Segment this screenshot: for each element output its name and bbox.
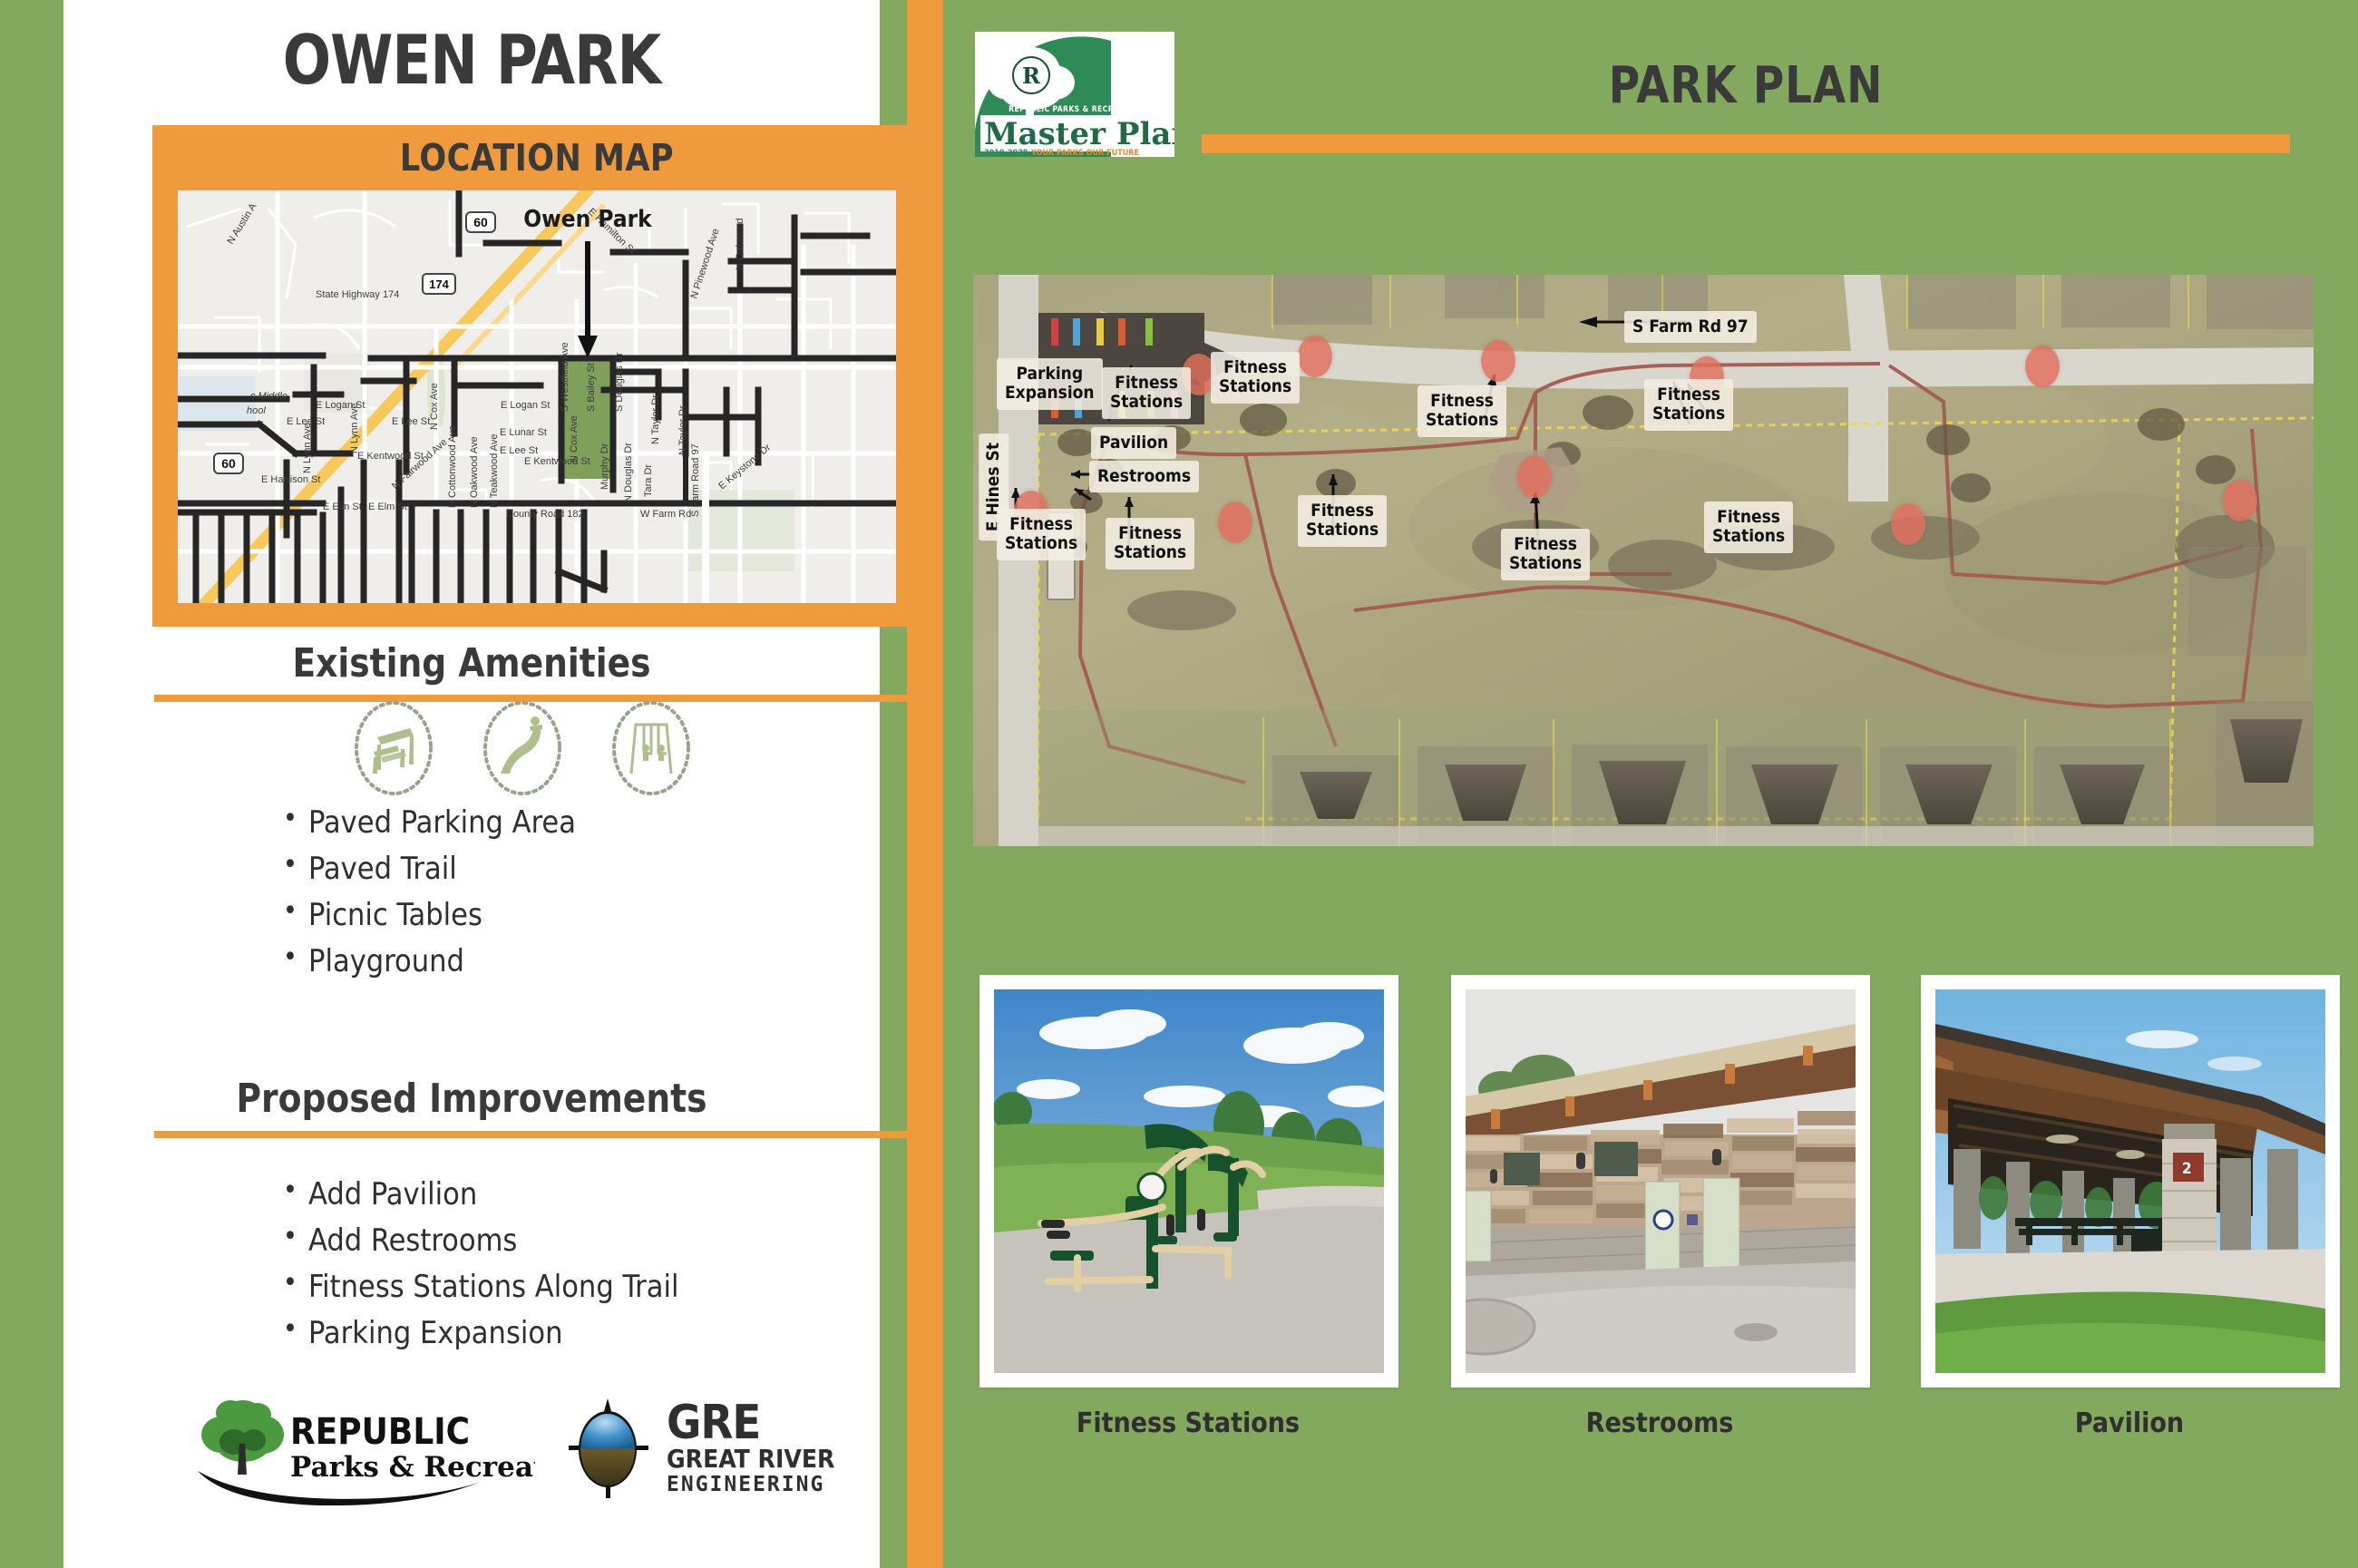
proposed-improvements-heading: Proposed Improvements <box>84 1076 860 1122</box>
list-item: Add Pavilion <box>281 1179 678 1210</box>
list-item: Paved Trail <box>281 853 576 884</box>
masterplan-years: 2019-2028 <box>984 149 1028 157</box>
gre-logo-line1: GREAT RIVER <box>667 1444 834 1474</box>
park-plan-rule <box>1202 134 2290 153</box>
svg-text:W Farm Rd: W Farm Rd <box>640 509 691 520</box>
master-plan-logo: R REPUBLIC PARKS & RECREATION Master Pla… <box>975 32 1174 157</box>
fitness-stations-photo[interactable] <box>979 975 1398 1388</box>
svg-text:S Bailey St: S Bailey St <box>586 363 597 412</box>
fitness-marker[interactable] <box>2223 480 2257 521</box>
pavilion-caption: Pavilion <box>1921 1407 2338 1439</box>
fitness-marker[interactable] <box>1481 340 1515 382</box>
aerial-label-fitness-stations: Fitness Stations <box>1418 385 1506 437</box>
aerial-label-fitness-stations: Fitness Stations <box>1298 495 1387 547</box>
left-panel: OWEN PARK LOCATION MAP <box>63 0 880 1568</box>
aerial-site-plan[interactable]: S Farm Rd 97 E Hines St Parking Expansio… <box>973 275 2314 846</box>
fitness-stations-image <box>994 989 1384 1373</box>
restrooms-image <box>1466 989 1856 1373</box>
svg-text:S Westfield Ave: S Westfield Ave <box>560 342 570 412</box>
svg-text:60: 60 <box>221 456 236 471</box>
svg-text:N Cox Ave: N Cox Ave <box>429 383 440 430</box>
fitness-stations-caption: Fitness Stations <box>979 1407 1397 1439</box>
masterplan-title: Master Plan <box>984 116 1174 152</box>
highway-shield-60b: 60 <box>214 453 243 473</box>
picnic-table-icon <box>354 699 434 797</box>
aerial-label-fitness-stations: Fitness Stations <box>997 509 1086 560</box>
masterplan-tagline: YOUR PARKS OUR FUTURE <box>1030 149 1139 157</box>
svg-text:Murphy Dr: Murphy Dr <box>599 443 610 490</box>
owen-park-callout-label: Owen Park <box>523 206 653 233</box>
aerial-label-restrooms: Restrooms <box>1089 461 1199 492</box>
location-map-heading: LOCATION MAP <box>171 125 902 187</box>
svg-text:E Lee St: E Lee St <box>500 445 538 456</box>
paved-trail-icon <box>482 699 562 797</box>
svg-text:E Kentwood St: E Kentwood St <box>357 451 424 462</box>
aerial-label-fitness-stations: Fitness Stations <box>1644 379 1733 431</box>
location-map-graphic: N Austin A E Hamilton St State Highway 1… <box>178 190 896 603</box>
proposed-improvements-rule <box>154 1131 921 1138</box>
svg-text:County Road 182: County Road 182 <box>506 509 584 520</box>
svg-text:E Lee St: E Lee St <box>392 416 430 427</box>
svg-text:60: 60 <box>473 215 488 229</box>
aerial-label-fitness-stations: Fitness Stations <box>1106 518 1194 570</box>
svg-text:S Farm Road 97: S Farm Road 97 <box>690 443 701 517</box>
highway-shield-174: 174 <box>423 274 455 294</box>
svg-text:E Elm St: E Elm St <box>368 502 407 512</box>
svg-text:E Harrison St: E Harrison St <box>261 474 320 485</box>
gre-logo: GRE GREAT RIVER ENGINEERING <box>567 1395 893 1504</box>
svg-text:N Oakwood Ave: N Oakwood Ave <box>469 436 480 508</box>
location-map-canvas[interactable]: N Austin A E Hamilton St State Highway 1… <box>178 190 896 603</box>
svg-text:N Teakwood Ave: N Teakwood Ave <box>489 433 500 508</box>
svg-text:N Lynn Ave: N Lynn Ave <box>349 403 360 453</box>
svg-text:N Cox Ave: N Cox Ave <box>569 415 580 463</box>
list-item: Parking Expansion <box>281 1318 678 1349</box>
svg-text:E Kentwood St: E Kentwood St <box>524 456 590 467</box>
aerial-label-fitness-stations: Fitness Stations <box>1211 352 1300 404</box>
svg-text:174: 174 <box>429 278 449 291</box>
existing-amenities-list: Paved Parking Area Paved Trail Picnic Ta… <box>281 807 576 992</box>
pavilion-photo[interactable]: 2 <box>1921 975 2340 1388</box>
svg-text:c Middle: c Middle <box>250 391 287 402</box>
svg-text:N Lynn Ave: N Lynn Ave <box>302 423 313 473</box>
panel-divider <box>907 0 943 1568</box>
republic-parks-logo: REPUBLIC Parks & Recreation <box>190 1388 535 1505</box>
park-plan-title: PARK PLAN <box>1235 56 2256 115</box>
fitness-marker[interactable] <box>1891 503 1925 545</box>
poster-root: OWEN PARK LOCATION MAP <box>0 0 2358 1568</box>
page-title: OWEN PARK <box>93 20 852 100</box>
list-item: Paved Parking Area <box>281 807 576 838</box>
republic-logo-line2: Parks & Recreation <box>290 1451 535 1484</box>
republic-logo-line1: REPUBLIC <box>290 1411 470 1453</box>
location-map-card: LOCATION MAP <box>152 125 921 627</box>
svg-text:S Douglas Dr: S Douglas Dr <box>614 352 625 412</box>
gre-logo-line2: ENGINEERING <box>667 1473 824 1496</box>
aerial-label-fitness-stations: Fitness Stations <box>1501 529 1590 580</box>
aerial-label-fitness-stations: Fitness Stations <box>1704 502 1793 553</box>
svg-text:E Lunar St: E Lunar St <box>500 427 547 438</box>
highway-shield-60a: 60 <box>466 212 495 232</box>
fitness-marker[interactable] <box>1218 502 1252 543</box>
list-item: Fitness Stations Along Trail <box>281 1271 678 1302</box>
aerial-label-s-farm-rd-97: S Farm Rd 97 <box>1624 311 1757 343</box>
svg-text:E Elm St: E Elm St <box>323 502 362 512</box>
fitness-marker[interactable] <box>1298 336 1332 377</box>
svg-text:2: 2 <box>2182 1160 2192 1178</box>
existing-amenities-heading: Existing Amenities <box>84 640 860 687</box>
svg-text:N Oakwood: N Oakwood <box>735 219 745 270</box>
svg-text:N Douglas Dr: N Douglas Dr <box>623 443 634 502</box>
list-item: Add Restrooms <box>281 1225 678 1256</box>
list-item: Picnic Tables <box>281 900 576 930</box>
amenity-icon-row <box>354 698 680 798</box>
svg-text:N Taylor Dr: N Taylor Dr <box>677 405 688 455</box>
playground-swing-icon <box>611 699 691 797</box>
svg-text:State Highway 174: State Highway 174 <box>316 289 399 300</box>
aerial-label-pavilion: Pavilion <box>1091 427 1176 459</box>
svg-text:hool: hool <box>247 405 266 416</box>
fitness-marker[interactable] <box>1517 456 1552 498</box>
svg-text:N Cottonwood Ave: N Cottonwood Ave <box>447 425 458 508</box>
svg-text:Tara Dr: Tara Dr <box>643 464 654 497</box>
aerial-label-parking-expansion: Parking Expansion <box>997 358 1103 410</box>
gre-logo-mark: GRE <box>667 1396 760 1450</box>
masterplan-org: REPUBLIC PARKS & RECREATION <box>1008 105 1145 114</box>
aerial-label-fitness-stations: Fitness Stations <box>1102 367 1191 419</box>
restrooms-photo[interactable] <box>1451 975 1870 1388</box>
restrooms-caption: Restrooms <box>1451 1407 1868 1439</box>
pavilion-image: 2 <box>1935 989 2325 1373</box>
logo-row: REPUBLIC Parks & Recreation <box>190 1388 898 1524</box>
masterplan-monogram: R <box>1022 63 1041 89</box>
svg-text:N Taylor Dr: N Taylor Dr <box>650 394 661 444</box>
proposed-improvements-list: Add Pavilion Add Restrooms Fitness Stati… <box>281 1179 678 1364</box>
fitness-marker[interactable] <box>2025 346 2060 387</box>
svg-text:E Logan St: E Logan St <box>501 400 550 411</box>
list-item: Playground <box>281 946 576 977</box>
